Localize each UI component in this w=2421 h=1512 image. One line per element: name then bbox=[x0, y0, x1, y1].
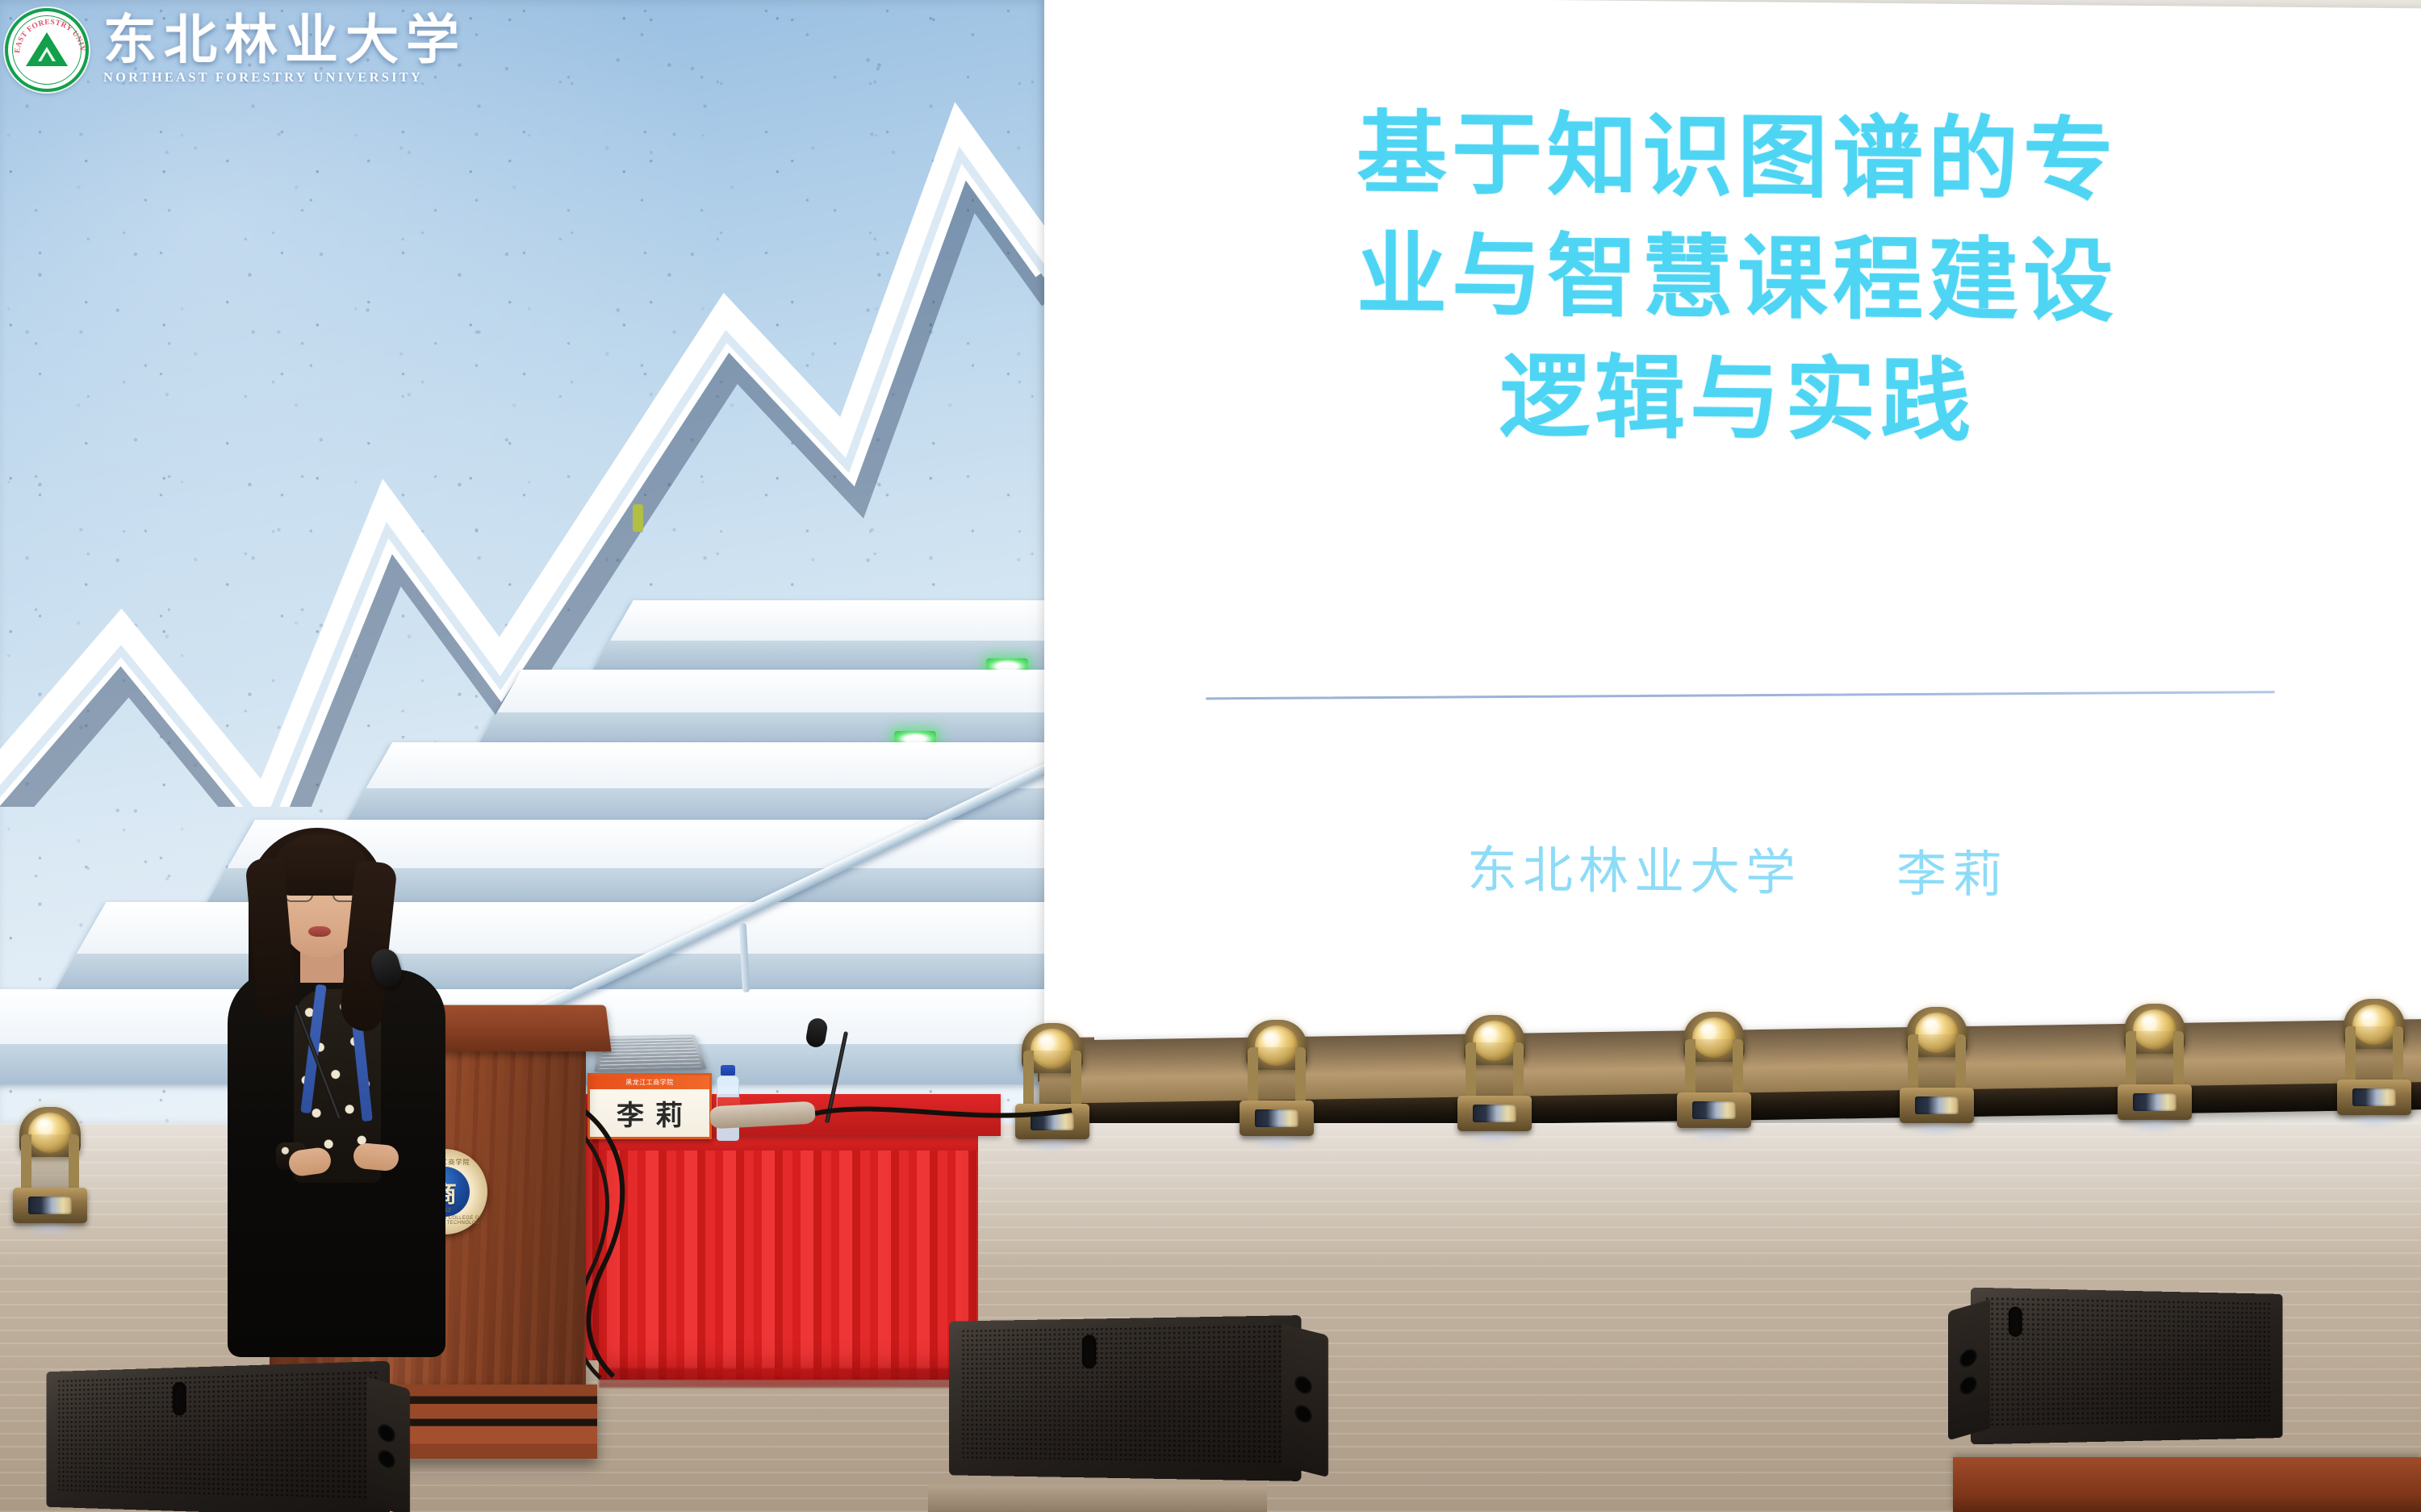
slide-presenter-name: 李莉 bbox=[1896, 844, 2008, 904]
presenter-person bbox=[220, 823, 470, 1404]
stage-scene: NORTHEAST FORESTRY UNIVERSITY 东北林业大学 NOR… bbox=[0, 0, 2421, 1512]
university-wordmark: 东北林业大学 NORTHEAST FORESTRY UNIVERSITY bbox=[103, 15, 466, 86]
seal-ring-text: NORTHEAST FORESTRY UNIVERSITY bbox=[8, 11, 92, 95]
projection-screen[interactable]: 基于知识图谱的专 业与智慧课程建设 逻辑与实践 东北林业大学李莉 bbox=[1044, 0, 2421, 1063]
slide-divider-line bbox=[1206, 691, 2275, 700]
stage-monitor-speaker bbox=[941, 1318, 1296, 1478]
speaker-handle bbox=[173, 1382, 186, 1416]
moving-head-light bbox=[1672, 1007, 1756, 1128]
stage-monitor-speaker bbox=[29, 1367, 381, 1512]
presenter-mouth bbox=[308, 926, 331, 937]
slide-title: 基于知识图谱的专 业与智慧课程建设 逻辑与实践 bbox=[1044, 90, 2421, 467]
moving-head-light bbox=[8, 1102, 92, 1223]
moving-head-light bbox=[1895, 1002, 1979, 1123]
moving-head-light bbox=[1453, 1010, 1537, 1131]
backdrop-banner: NORTHEAST FORESTRY UNIVERSITY 东北林业大学 NOR… bbox=[0, 0, 1051, 1126]
seal-ring-label: NORTHEAST FORESTRY UNIVERSITY bbox=[8, 11, 86, 53]
university-branding: NORTHEAST FORESTRY UNIVERSITY 东北林业大学 NOR… bbox=[5, 8, 466, 92]
university-name-en: NORTHEAST FORESTRY UNIVERSITY bbox=[103, 69, 466, 86]
water-bottle bbox=[717, 1065, 739, 1141]
moving-head-light bbox=[2332, 994, 2416, 1115]
presenter-hand bbox=[353, 1142, 400, 1172]
stage-cable bbox=[815, 1094, 1073, 1142]
slide-affiliation: 东北林业大学 bbox=[1467, 840, 1801, 902]
slide-content: 基于知识图谱的专 业与智慧课程建设 逻辑与实践 东北林业大学李莉 bbox=[1044, 0, 2421, 1063]
bottle-cap bbox=[721, 1065, 735, 1076]
speaker-handle bbox=[1082, 1334, 1097, 1368]
slide-byline: 东北林业大学李莉 bbox=[1044, 825, 2421, 910]
stage-front-edge bbox=[928, 1485, 1267, 1512]
university-name-cn: 东北林业大学 bbox=[103, 15, 466, 68]
laptop-device bbox=[594, 1034, 707, 1072]
svg-text:NORTHEAST FORESTRY UNIVERSITY: NORTHEAST FORESTRY UNIVERSITY bbox=[8, 11, 86, 53]
nefu-seal-logo: NORTHEAST FORESTRY UNIVERSITY bbox=[5, 8, 89, 92]
moving-head-light bbox=[1235, 1015, 1319, 1136]
stage-front-lip bbox=[1953, 1457, 2421, 1512]
moving-head-light bbox=[2113, 999, 2197, 1120]
stage-monitor-speaker bbox=[1976, 1291, 2292, 1441]
speaker-handle bbox=[2009, 1306, 2022, 1336]
